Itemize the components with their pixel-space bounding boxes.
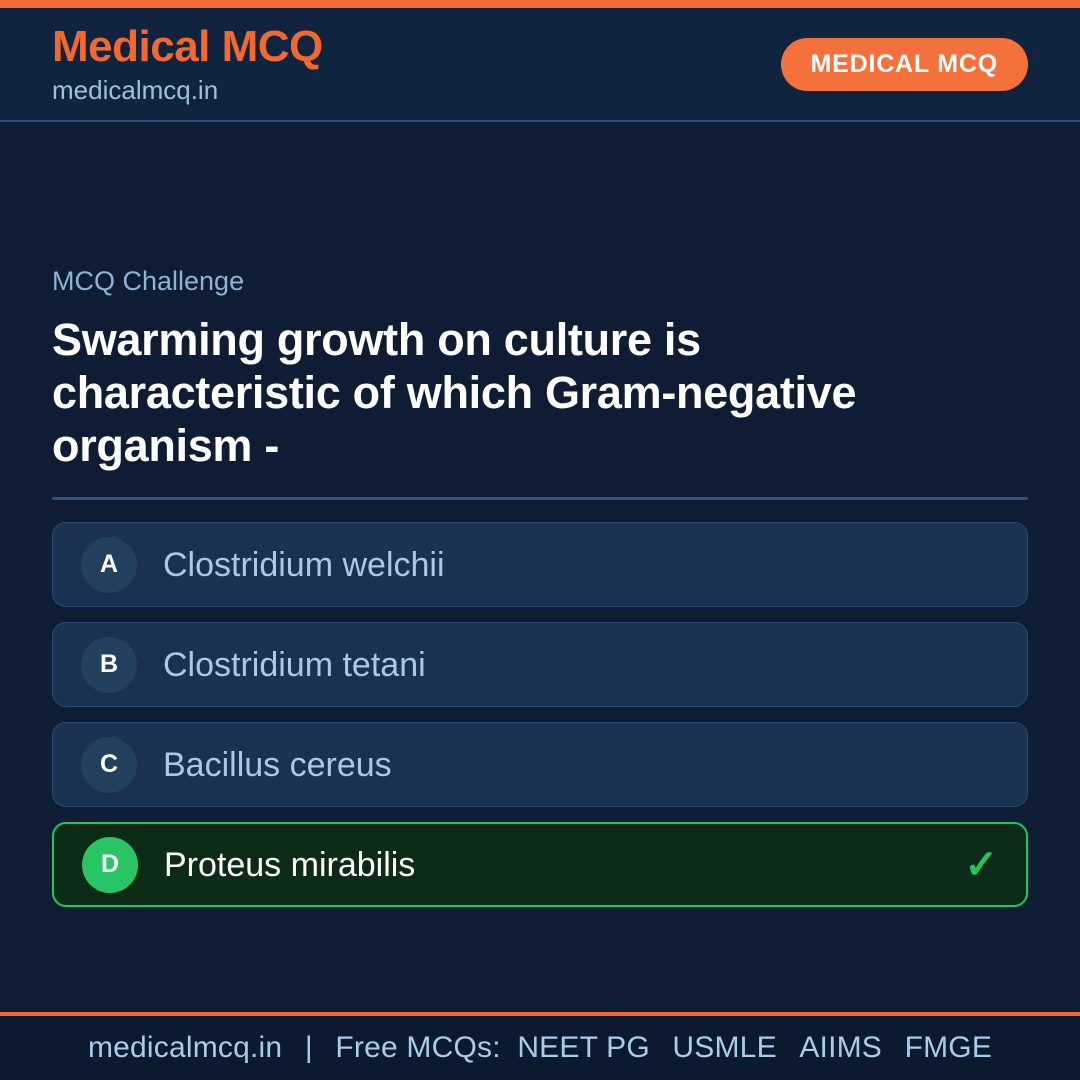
footer-exams-label: Free MCQs: — [335, 1031, 500, 1064]
footer-text: medicalmcq.in | Free MCQs: NEET PG USMLE… — [88, 1031, 992, 1065]
footer-exam-fmge: FMGE — [905, 1031, 992, 1064]
brand: Medical MCQ medicalmcq.in — [52, 24, 323, 105]
mcq-card: Medical MCQ medicalmcq.in MEDICAL MCQ MC… — [0, 0, 1080, 1080]
kicker-label: MCQ Challenge — [52, 268, 1028, 295]
footer-exam-usmle: USMLE — [672, 1031, 776, 1064]
question-text: Swarming growth on culture is characteri… — [52, 313, 982, 472]
brand-title: Medical MCQ — [52, 24, 323, 70]
footer: medicalmcq.in | Free MCQs: NEET PG USMLE… — [0, 1012, 1080, 1080]
footer-separator: | — [291, 1031, 327, 1064]
content-area: MCQ Challenge Swarming growth on culture… — [0, 122, 1080, 1012]
option-label: Clostridium tetani — [163, 648, 426, 682]
option-letter-badge: D — [82, 837, 138, 893]
footer-exams: NEET PG USMLE AIIMS FMGE — [509, 1031, 992, 1064]
header-badge: MEDICAL MCQ — [781, 38, 1029, 91]
option-label: Proteus mirabilis — [164, 848, 415, 882]
option-c[interactable]: C Bacillus cereus ✓ — [52, 722, 1028, 807]
option-letter-badge: B — [81, 637, 137, 693]
question-divider — [52, 497, 1028, 500]
check-icon: ✓ — [964, 845, 998, 885]
option-letter-badge: A — [81, 537, 137, 593]
option-label: Clostridium welchii — [163, 548, 445, 582]
option-b[interactable]: B Clostridium tetani ✓ — [52, 622, 1028, 707]
option-label: Bacillus cereus — [163, 748, 392, 782]
header: Medical MCQ medicalmcq.in MEDICAL MCQ — [0, 8, 1080, 122]
footer-exam-neetpg: NEET PG — [517, 1031, 650, 1064]
option-a[interactable]: A Clostridium welchii ✓ — [52, 522, 1028, 607]
option-letter-badge: C — [81, 737, 137, 793]
option-d[interactable]: D Proteus mirabilis ✓ — [52, 822, 1028, 907]
brand-subtitle: medicalmcq.in — [52, 76, 323, 105]
footer-site: medicalmcq.in — [88, 1031, 282, 1064]
footer-exam-aiims: AIIMS — [799, 1031, 882, 1064]
options-list: A Clostridium welchii ✓ B Clostridium te… — [52, 522, 1028, 907]
top-accent-bar — [0, 0, 1080, 8]
